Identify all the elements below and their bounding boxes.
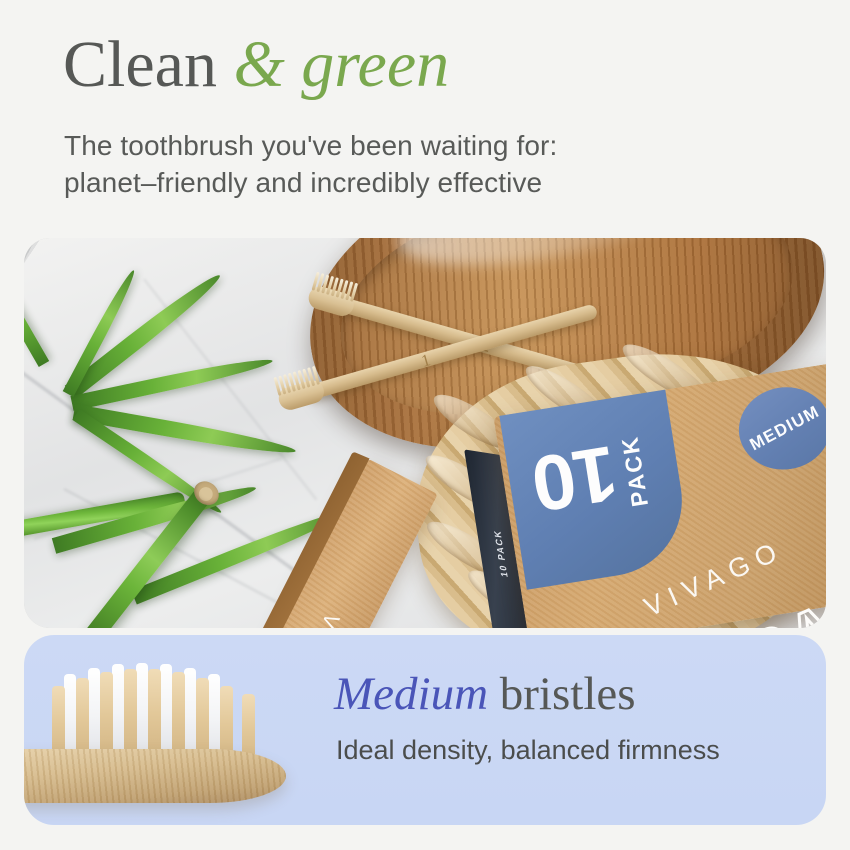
header: Clean & green The toothbrush you've been…	[0, 0, 850, 238]
product-photo-panel: 2 1 VIVAGO 10 PACK	[24, 238, 826, 628]
pack-count-tab: 10 PACK	[499, 390, 692, 590]
pack-count-number: 10	[529, 439, 621, 518]
feature-title-accent: Medium	[334, 668, 488, 720]
feature-panel: Medium bristles Ideal density, balanced …	[24, 635, 826, 825]
feature-title: Medium bristles	[334, 667, 636, 721]
page-subtitle-line-1: The toothbrush you've been waiting for:	[64, 128, 557, 165]
brush-head-grain	[24, 749, 286, 803]
page-title-accent: & green	[233, 28, 449, 101]
feature-title-plain: bristles	[488, 668, 636, 720]
firmness-badge-label: MEDIUM	[746, 402, 823, 455]
page-subtitle-line-2: planet–friendly and incredibly effective	[64, 165, 557, 202]
feature-subtitle: Ideal density, balanced firmness	[336, 735, 720, 766]
page-title: Clean & green	[63, 30, 449, 99]
page-title-plain: Clean	[63, 28, 233, 101]
brush-head-body	[24, 749, 286, 803]
firmness-badge: MEDIUM	[733, 381, 826, 476]
bristle-macro-image	[30, 653, 330, 825]
product-box-spine-text: 10 PACK	[492, 529, 510, 578]
pack-count-word: PACK	[616, 434, 654, 509]
page-subtitle: The toothbrush you've been waiting for: …	[64, 128, 557, 202]
